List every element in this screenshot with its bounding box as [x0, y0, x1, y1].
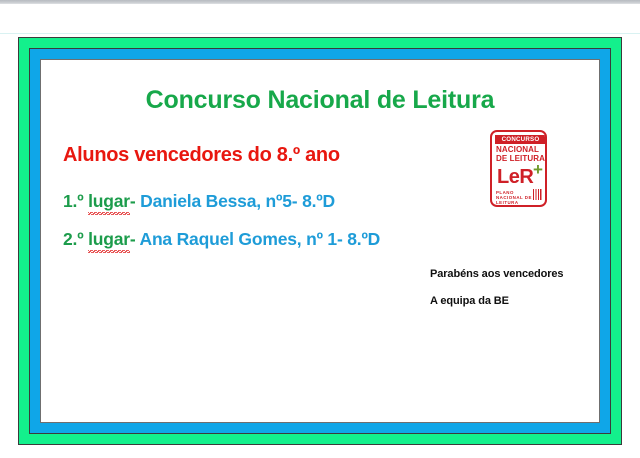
winner-1-rank-prefix: 1.º	[63, 191, 88, 211]
closing-congratulations-text: Parabéns aos vencedores	[430, 268, 563, 280]
slide-subtitle: Alunos vencedores do 8.º ano	[63, 144, 340, 167]
logo-plus-icon: +	[533, 161, 543, 178]
slide-title: Concurso Nacional de Leitura	[41, 86, 599, 115]
winner-1-name: Daniela Bessa, nº5- 8.ºD	[140, 191, 335, 211]
logo-banner-text: CONCURSO	[495, 135, 546, 144]
winner-2-name: Ana Raquel Gomes, nº 1- 8.ºD	[140, 229, 381, 249]
window-top-chrome-bar	[0, 0, 640, 4]
concurso-nacional-leitura-logo-icon: CONCURSO NACIONAL DE LEITURA LeR + PLANO…	[490, 130, 547, 207]
winner-1-rank-word: lugar	[88, 191, 130, 212]
winner-row-2: 2.º lugar- Ana Raquel Gomes, nº 1- 8.ºD	[63, 229, 380, 250]
winner-1-rank-suffix: -	[130, 191, 140, 211]
slide-inner-blue-frame: Concurso Nacional de Leitura Alunos venc…	[29, 48, 611, 434]
page-hairline-divider	[0, 33, 640, 34]
logo-wordmark-ler: LeR	[497, 167, 533, 187]
logo-line-nacional: NACIONAL	[496, 145, 539, 154]
logo-barcode-icon	[533, 189, 542, 200]
closing-signature-text: A equipa da BE	[430, 295, 509, 307]
winner-2-rank-prefix: 2.º	[63, 229, 88, 249]
winner-row-1: 1.º lugar- Daniela Bessa, nº5- 8.ºD	[63, 191, 335, 212]
slide-outer-green-frame: Concurso Nacional de Leitura Alunos venc…	[18, 37, 622, 445]
winner-2-rank-suffix: -	[130, 229, 140, 249]
logo-footer-text: PLANO NACIONAL DE LEITURA	[496, 190, 536, 206]
winner-2-rank-word: lugar	[88, 229, 130, 250]
slide-content-canvas: Concurso Nacional de Leitura Alunos venc…	[40, 59, 600, 423]
